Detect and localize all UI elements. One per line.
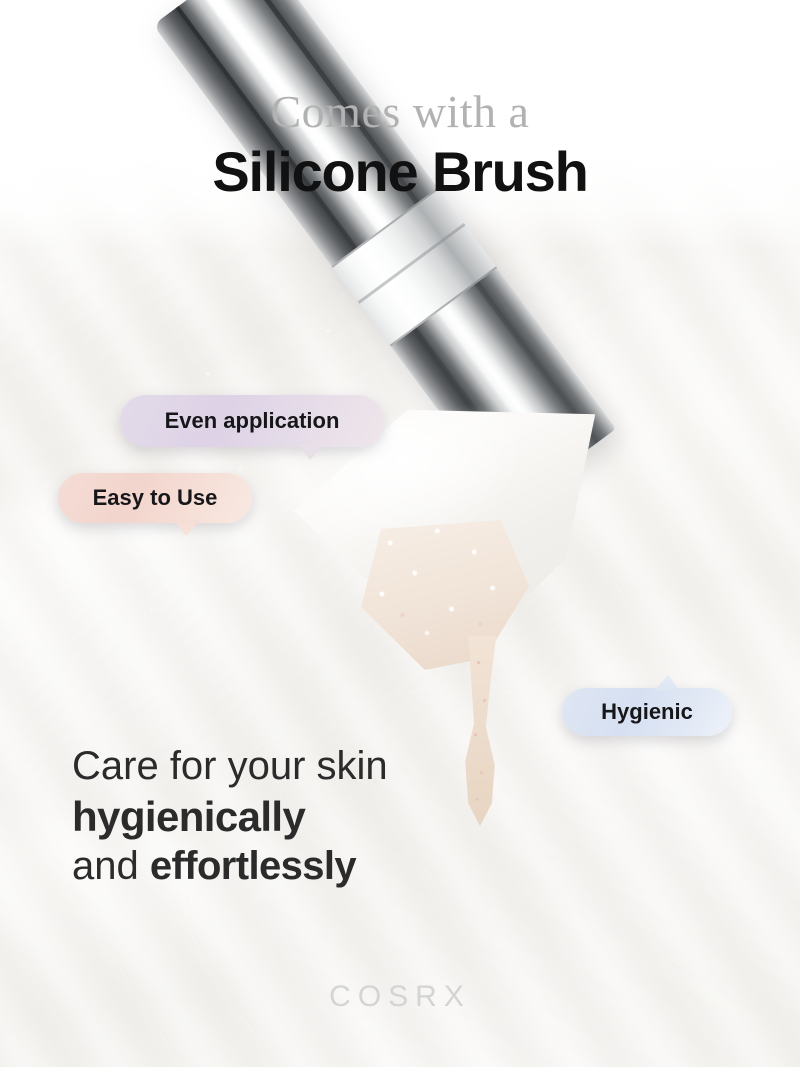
feature-badge-even-application: Even application [120,395,384,447]
headline-title: Silicone Brush [0,142,800,202]
feature-badge-hygienic: Hygienic [562,688,732,736]
feature-badge-easy-to-use: Easy to Use [58,473,252,523]
tagline-line-1: Care for your skin [72,742,388,791]
tagline-line-3-bold: effortlessly [150,844,356,888]
feature-badge-label: Hygienic [601,699,693,725]
tagline-block: Care for your skin hygienically and effo… [72,742,388,891]
feature-badge-label: Easy to Use [93,485,218,511]
tagline-line-3-regular: and [72,844,150,888]
tagline-line-2: hygienically [72,791,388,842]
headline-kicker: Comes with a [0,88,800,136]
headline-block: Comes with a Silicone Brush [0,88,800,203]
tagline-line-3: and effortlessly [72,842,388,891]
brand-logo: COSRX [0,980,800,1014]
product-feature-poster: Comes with a Silicone Brush Even applica… [0,0,800,1067]
feature-badge-label: Even application [165,408,340,434]
